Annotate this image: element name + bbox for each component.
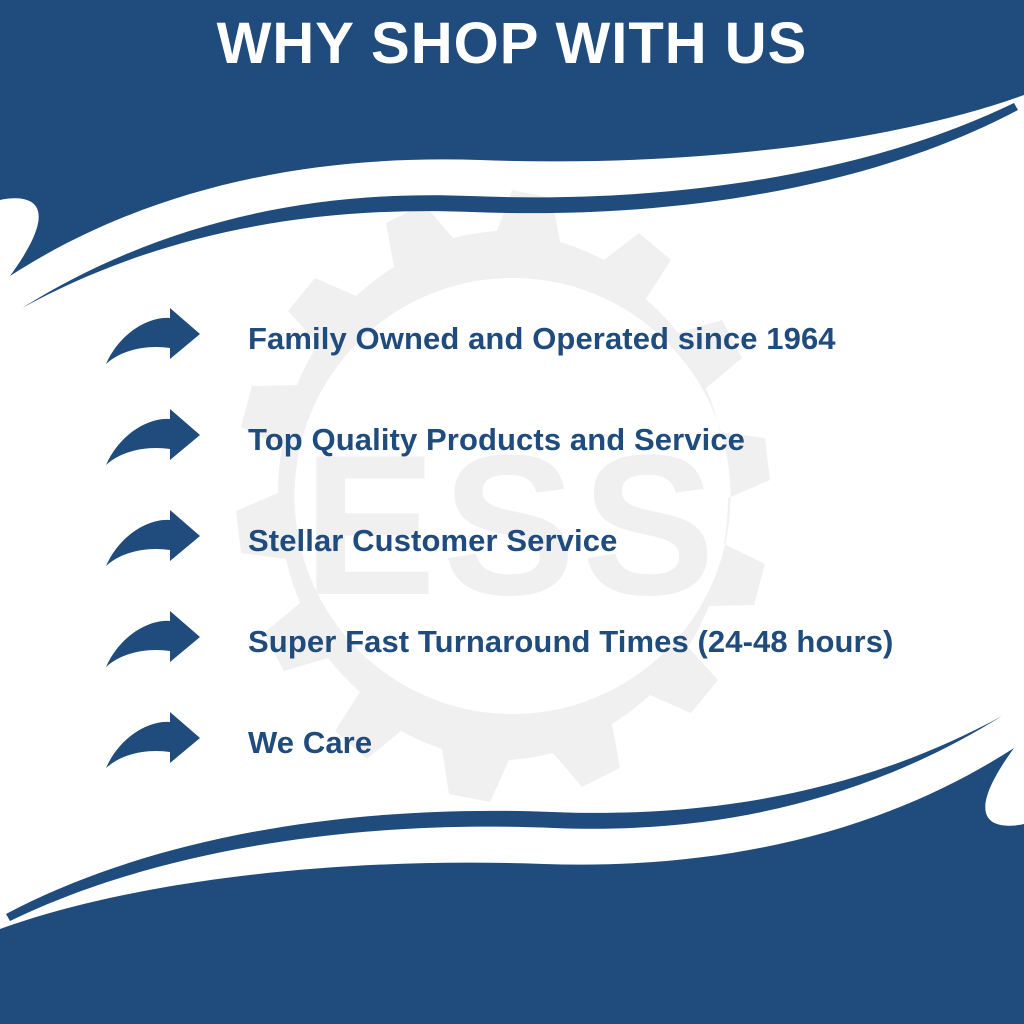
list-item: Family Owned and Operated since 1964 xyxy=(0,288,1024,389)
benefits-list: Family Owned and Operated since 1964 Top… xyxy=(0,288,1024,793)
list-item-label: Super Fast Turnaround Times (24-48 hours… xyxy=(248,624,893,660)
page-title: WHY SHOP WITH US xyxy=(0,14,1024,75)
list-item-label: Top Quality Products and Service xyxy=(248,422,745,458)
list-item: Stellar Customer Service xyxy=(0,490,1024,591)
list-item: Super Fast Turnaround Times (24-48 hours… xyxy=(0,591,1024,692)
curved-arrow-right-icon xyxy=(104,712,202,774)
list-item-label: We Care xyxy=(248,725,372,761)
curved-arrow-right-icon xyxy=(104,308,202,370)
list-item-label: Family Owned and Operated since 1964 xyxy=(248,321,836,357)
curved-arrow-right-icon xyxy=(104,409,202,471)
promo-banner: ESS WHY SHOP WITH US Family Owned and Op… xyxy=(0,0,1024,1024)
list-item-label: Stellar Customer Service xyxy=(248,523,617,559)
curved-arrow-right-icon xyxy=(104,611,202,673)
list-item: Top Quality Products and Service xyxy=(0,389,1024,490)
curved-arrow-right-icon xyxy=(104,510,202,572)
list-item: We Care xyxy=(0,692,1024,793)
